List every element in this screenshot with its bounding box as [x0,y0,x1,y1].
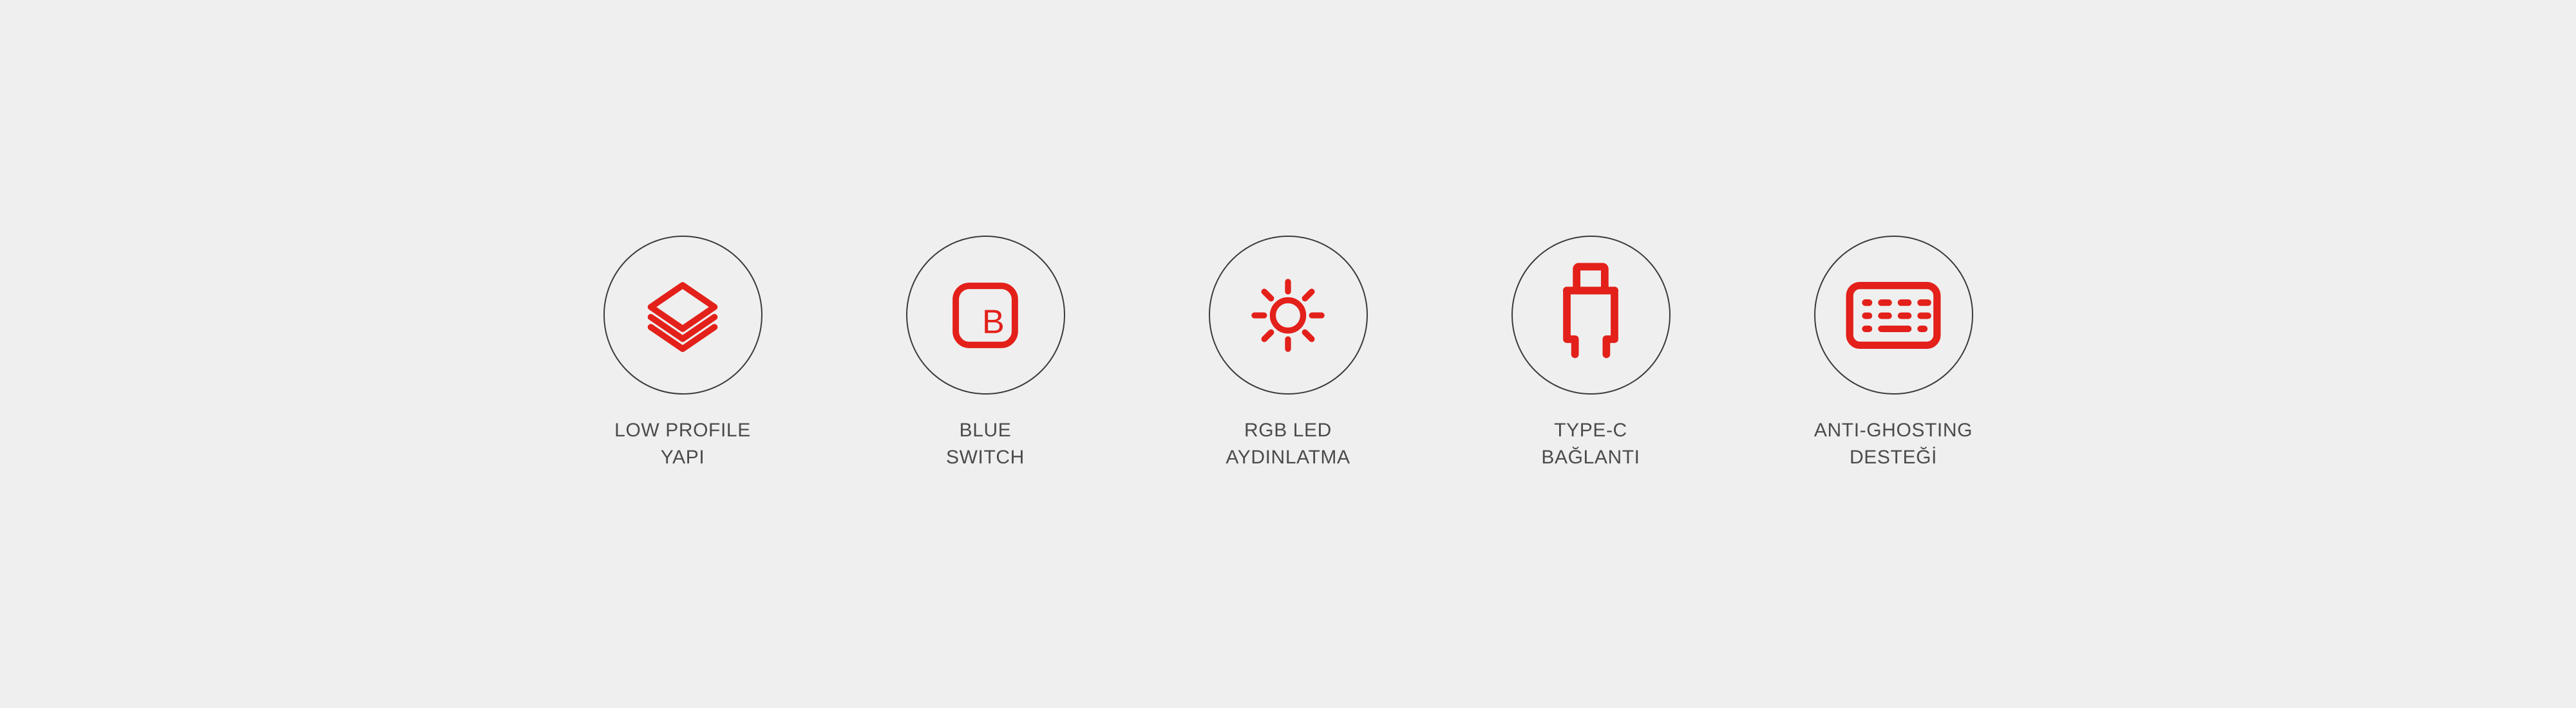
icon-circle-blue-switch: B [906,236,1065,395]
layers-icon [641,274,724,357]
feature-label-line-2: YAPI [614,444,751,471]
feature-item-type-c[interactable]: TYPE-C BAĞLANTI [1439,236,1742,471]
feature-label-low-profile: LOW PROFILE YAPI [614,417,751,471]
blue-switch-key-icon: B [945,275,1025,355]
feature-label-rgb-led: RGB LED AYDINLATMA [1226,417,1350,471]
blue-switch-key-letter: B [982,303,1005,340]
feature-label-line-1: RGB LED [1226,417,1350,444]
feature-item-anti-ghosting[interactable]: ANTI-GHOSTING DESTEĞİ [1742,236,2045,471]
feature-label-line-1: BLUE [946,417,1025,444]
feature-label-line-2: DESTEĞİ [1814,444,1973,471]
brightness-sun-icon [1248,275,1328,355]
feature-label-anti-ghosting: ANTI-GHOSTING DESTEĞİ [1814,417,1973,471]
icon-circle-type-c [1511,236,1671,395]
feature-item-rgb-led[interactable]: RGB LED AYDINLATMA [1137,236,1439,471]
feature-label-line-2: AYDINLATMA [1226,444,1350,471]
feature-label-line-1: ANTI-GHOSTING [1814,417,1973,444]
feature-label-type-c: TYPE-C BAĞLANTI [1541,417,1640,471]
feature-item-low-profile[interactable]: LOW PROFILE YAPI [531,236,834,471]
feature-label-line-2: BAĞLANTI [1541,444,1640,471]
feature-item-blue-switch[interactable]: B BLUE SWITCH [834,236,1137,471]
keyboard-icon [1846,282,1941,349]
feature-label-line-2: SWITCH [946,444,1025,471]
feature-label-blue-switch: BLUE SWITCH [946,417,1025,471]
feature-label-line-1: LOW PROFILE [614,417,751,444]
feature-strip: LOW PROFILE YAPI B BLUE SWITCH [0,0,2576,708]
feature-label-line-1: TYPE-C [1541,417,1640,444]
icon-circle-low-profile [603,236,762,395]
icon-circle-anti-ghosting [1814,236,1973,395]
icon-circle-rgb-led [1209,236,1368,395]
usb-type-c-connector-icon [1553,261,1629,369]
